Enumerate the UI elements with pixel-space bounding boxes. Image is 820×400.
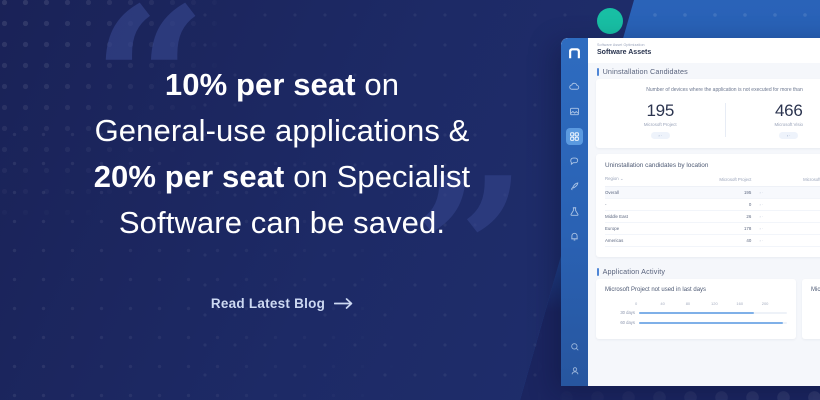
activity-axis-ticks: 0 40 80 120 160 200 bbox=[605, 301, 787, 306]
cell-region: Middle East bbox=[605, 211, 685, 223]
location-table-card: Uninstallation candidates by location Re… bbox=[596, 154, 820, 257]
col-microsoft-project[interactable]: Microsoft Project bbox=[685, 176, 765, 187]
dashboard-title-block: Software Asset Optimization Software Ass… bbox=[597, 43, 651, 58]
table-body: Overall 195 466 - 0 0 Middle East 26 bbox=[605, 187, 820, 247]
table-row[interactable]: Americas 40 36 bbox=[605, 235, 820, 247]
bar-label: 30 days bbox=[811, 305, 820, 310]
kpi-value: 466 bbox=[725, 101, 820, 121]
cell-region: Europe bbox=[605, 223, 685, 235]
location-table: Region ⌄ Microsoft Project Microsoft Vis… bbox=[605, 176, 820, 247]
arrow-right-icon bbox=[334, 298, 353, 309]
table-row[interactable]: - 0 0 bbox=[605, 199, 820, 211]
dashboard-sidebar-rail bbox=[561, 38, 588, 386]
cell-region: Overall bbox=[605, 187, 685, 199]
promo-line-1: 10% per seat on bbox=[22, 62, 542, 108]
cell-region: - bbox=[605, 199, 685, 211]
page-title: Software Assets bbox=[597, 48, 651, 58]
axis-tick: 200 bbox=[762, 301, 787, 306]
promo-line-4: Software can be saved. bbox=[22, 200, 542, 246]
promo-line-2-rest: General-use applications & bbox=[95, 113, 470, 148]
promo-line-1-bold: 10% per seat bbox=[165, 67, 356, 102]
sidebar-item-chat[interactable] bbox=[566, 153, 583, 170]
cta-container: Read Latest Blog bbox=[22, 296, 542, 311]
cta-label: Read Latest Blog bbox=[211, 296, 325, 311]
axis-tick: 80 bbox=[686, 301, 711, 306]
axis-tick: 160 bbox=[736, 301, 761, 306]
activity-card-row: Microsoft Project not used in last days … bbox=[596, 279, 820, 339]
cell-visio: 397 bbox=[764, 223, 820, 235]
section-accent-tick bbox=[597, 68, 599, 76]
activity-bar-row: 60 days bbox=[811, 315, 820, 320]
table-row[interactable]: Overall 195 466 bbox=[605, 187, 820, 199]
bar-label: 30 days bbox=[605, 310, 639, 315]
kpi-subtitle: Number of devices where the application … bbox=[596, 87, 820, 101]
section-title-activity: Application Activity bbox=[603, 267, 666, 276]
cell-visio: 466 bbox=[764, 187, 820, 199]
kpi-label: Microsoft Visio bbox=[725, 122, 820, 127]
promo-line-3-rest: on Specialist bbox=[284, 159, 470, 194]
bar-fill bbox=[639, 322, 783, 324]
cell-project: 195 bbox=[685, 187, 765, 199]
sidebar-item-rocket[interactable] bbox=[566, 178, 583, 195]
bar-fill bbox=[639, 312, 754, 314]
kpi-card: Number of devices where the application … bbox=[596, 79, 820, 148]
promo-line-3-bold: 20% per seat bbox=[94, 159, 285, 194]
promo-banner: “ ” 10% per seat on General-use applicat… bbox=[0, 0, 820, 400]
axis-tick: 40 bbox=[660, 301, 685, 306]
table-row[interactable]: Middle East 26 65 bbox=[605, 211, 820, 223]
teal-accent-circle bbox=[597, 8, 623, 34]
dashboard-mockup: Software Asset Optimization Software Ass… bbox=[561, 38, 820, 386]
sidebar-item-dashboard[interactable] bbox=[566, 128, 583, 145]
kpi-value: 195 bbox=[596, 101, 725, 121]
cell-visio: 36 bbox=[764, 235, 820, 247]
kpi-microsoft-visio[interactable]: 466 Microsoft Visio › · bbox=[725, 101, 820, 139]
read-latest-blog-link[interactable]: Read Latest Blog bbox=[211, 296, 353, 311]
cell-region: Americas bbox=[605, 235, 685, 247]
kpi-pill-badge[interactable]: › · bbox=[651, 132, 670, 139]
sidebar-item-user[interactable] bbox=[566, 362, 583, 379]
section-header-uninstallation: Uninstallation Candidates bbox=[588, 63, 820, 79]
cell-project: 0 bbox=[685, 199, 765, 211]
table-head: Region ⌄ Microsoft Project Microsoft Vis… bbox=[605, 176, 820, 187]
section-header-activity: Application Activity bbox=[588, 263, 820, 279]
bar-track bbox=[639, 322, 787, 324]
cell-project: 178 bbox=[685, 223, 765, 235]
table-header-row: Region ⌄ Microsoft Project Microsoft Vis… bbox=[605, 176, 820, 187]
cell-project: 26 bbox=[685, 211, 765, 223]
bar-label: 60 days bbox=[605, 320, 639, 325]
sort-chevron-icon[interactable]: ⌄ bbox=[620, 176, 624, 181]
sidebar-item-bell[interactable] bbox=[566, 228, 583, 245]
sidebar-item-search[interactable] bbox=[566, 338, 583, 355]
kpi-microsoft-project[interactable]: 195 Microsoft Project › · bbox=[596, 101, 725, 139]
table-title: Uninstallation candidates by location bbox=[605, 162, 820, 169]
nexthink-logo-icon bbox=[566, 44, 584, 62]
section-accent-tick bbox=[597, 268, 599, 276]
axis-tick: 0 bbox=[635, 301, 660, 306]
table-row[interactable]: Europe 178 397 bbox=[605, 223, 820, 235]
activity-card-title: Microsoft Project not used in last days bbox=[605, 287, 787, 293]
sidebar-item-cloud[interactable] bbox=[566, 78, 583, 95]
dashboard-body: Software Asset Optimization Software Ass… bbox=[588, 38, 820, 386]
activity-bar-row: 30 days bbox=[605, 310, 787, 315]
activity-bar-row: 30 days bbox=[811, 305, 820, 310]
promo-line-2: General-use applications & bbox=[22, 108, 542, 154]
activity-card-visio: Microsoft Vi 30 days 60 days bbox=[802, 279, 820, 339]
cell-project: 40 bbox=[685, 235, 765, 247]
kpi-pill-badge[interactable]: › · bbox=[779, 132, 798, 139]
kpi-row: 195 Microsoft Project › · 466 Microsoft … bbox=[596, 101, 820, 139]
cell-visio: 65 bbox=[764, 211, 820, 223]
axis-tick: 120 bbox=[711, 301, 736, 306]
bar-label: 60 days bbox=[811, 315, 820, 320]
sidebar-item-flask[interactable] bbox=[566, 203, 583, 220]
promo-line-4-rest: Software can be saved. bbox=[119, 205, 445, 240]
kpi-label: Microsoft Project bbox=[596, 122, 725, 127]
section-title-uninstallation: Uninstallation Candidates bbox=[603, 67, 688, 76]
activity-card-title: Microsoft Vi bbox=[811, 287, 820, 293]
sidebar-item-image[interactable] bbox=[566, 103, 583, 120]
promo-line-3: 20% per seat on Specialist bbox=[22, 154, 542, 200]
col-region-label: Region bbox=[605, 176, 619, 181]
dashboard-header: Software Asset Optimization Software Ass… bbox=[588, 38, 820, 63]
promo-line-1-rest: on bbox=[356, 67, 399, 102]
promo-copy: 10% per seat on General-use applications… bbox=[22, 62, 542, 246]
col-microsoft-visio[interactable]: Microsoft Visio bbox=[764, 176, 820, 187]
activity-bar-row: 60 days bbox=[605, 320, 787, 325]
activity-card-project: Microsoft Project not used in last days … bbox=[596, 279, 796, 339]
col-region[interactable]: Region ⌄ bbox=[605, 176, 685, 187]
bar-track bbox=[639, 312, 787, 314]
cell-visio: 0 bbox=[764, 199, 820, 211]
